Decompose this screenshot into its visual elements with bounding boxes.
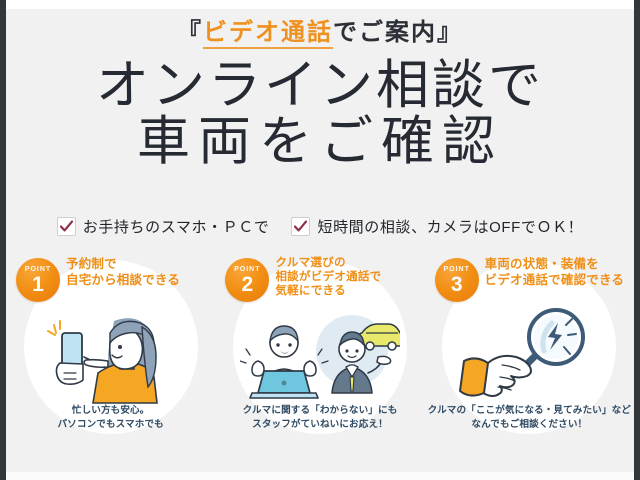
woman-laptop-and-salesman-illustration [215,304,424,406]
point-column-1: POINT 1 予約制で 自宅から相談できる [6,252,215,452]
check-icon [291,217,310,236]
check-label-1: お手持ちのスマホ・ＰＣで [83,216,270,237]
eyebrow-open-bracket: 『 [177,19,203,46]
point-column-3: POINT 3 車両の状態・装備を ビデオ通話で確認できる [425,252,634,452]
point-badge-2: POINT 2 [225,258,269,302]
badge-number-3: 3 [435,274,479,295]
title-line-1: オンライン相談で [6,58,634,114]
point-heading-1: 予約制で 自宅から相談できる [66,256,213,288]
point-caption-3: クルマの「ここが気になる・見てみたい」など なんでもご相談ください！ [425,404,634,432]
point-caption-1-line-1: 忙しい方も安心。 [6,404,215,418]
points-section: POINT 1 予約制で 自宅から相談できる [6,252,634,452]
eyebrow-headline: 『ビデオ通話でご案内』 [6,12,634,47]
badge-number-2: 2 [225,274,269,295]
badge-label-3: POINT [435,266,479,273]
check-icon [57,217,76,236]
eyebrow-rest-text: でご案内 [333,19,437,46]
point-caption-2-line-1: クルマに関する「わからない」にも [215,404,424,418]
point-caption-2-line-2: スタッフがていねいにお応え！ [215,418,424,432]
top-band [6,0,634,9]
check-item-1: お手持ちのスマホ・ＰＣで [57,216,270,237]
point-badge-1: POINT 1 [16,258,60,302]
point-heading-2: クルマ選びの 相談がビデオ通話で 気軽にできる [275,256,422,298]
eyebrow-close-bracket: 』 [437,19,463,46]
badge-number-1: 1 [16,274,60,295]
point-heading-2-line-3: 気軽にできる [275,284,422,298]
point-column-2: POINT 2 クルマ選びの 相談がビデオ通話で 気軽にできる [215,252,424,452]
promo-banner: 『ビデオ通話でご案内』 オンライン相談で 車両をご確認 お手持ちのスマホ・ＰＣで… [0,0,640,480]
check-item-2: 短時間の相談、カメラはOFFでＯＫ！ [291,216,583,237]
badge-label-2: POINT [225,266,269,273]
page-title: オンライン相談で 車両をご確認 [6,58,634,170]
point-caption-3-line-1: クルマの「ここが気になる・見てみたい」など [425,404,634,418]
point-caption-3-line-2: なんでもご相談ください！ [425,418,634,432]
eyebrow-highlight-text: ビデオ通話 [203,19,333,49]
point-heading-3-line-2: ビデオ通話で確認できる [485,272,632,288]
point-heading-2-line-1: クルマ選びの [275,256,422,270]
point-caption-2: クルマに関する「わからない」にも スタッフがていねいにお応え！ [215,404,424,432]
point-heading-1-line-1: 予約制で [66,256,213,272]
check-label-2: 短時間の相談、カメラはOFFでＯＫ！ [317,216,583,237]
point-caption-1: 忙しい方も安心。 パソコンでもスマホでも [6,404,215,432]
badge-label-1: POINT [16,266,60,273]
point-badge-3: POINT 3 [435,258,479,302]
point-heading-3: 車両の状態・装備を ビデオ通話で確認できる [485,256,632,288]
hand-with-magnifier-illustration [425,304,634,406]
point-heading-1-line-2: 自宅から相談できる [66,272,213,288]
woman-with-smartphone-illustration [6,304,215,406]
bottom-band [6,472,634,480]
point-heading-2-line-2: 相談がビデオ通話で [275,270,422,284]
point-caption-1-line-2: パソコンでもスマホでも [6,418,215,432]
title-line-2: 車両をご確認 [6,114,634,170]
feature-check-row: お手持ちのスマホ・ＰＣで 短時間の相談、カメラはOFFでＯＫ！ [6,216,634,237]
point-heading-3-line-1: 車両の状態・装備を [485,256,632,272]
